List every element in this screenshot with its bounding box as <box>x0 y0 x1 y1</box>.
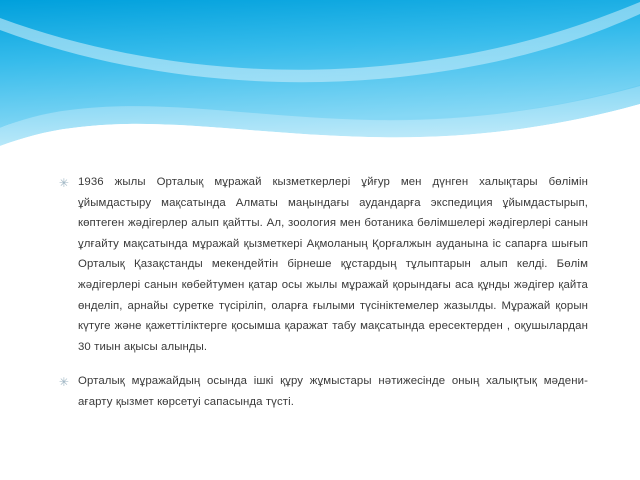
paragraph-text: Орталық мұражайдың осында ішкі құру жұмы… <box>78 371 588 412</box>
wave-header-svg <box>0 0 640 170</box>
bullet-marker-icon: ✳ <box>57 173 71 193</box>
bullet-marker-icon: ✳ <box>57 372 71 392</box>
list-item: ✳ 1936 жылы Орталық мұражай кызметкерлер… <box>0 172 640 357</box>
paragraph-text: 1936 жылы Орталық мұражай кызметкерлері … <box>78 172 588 357</box>
bullet-list: ✳ 1936 жылы Орталық мұражай кызметкерлер… <box>0 172 640 413</box>
wave-header-graphic <box>0 0 640 170</box>
list-item: ✳ Орталық мұражайдың осында ішкі құру жұ… <box>0 371 640 412</box>
slide: ✳ 1936 жылы Орталық мұражай кызметкерлер… <box>0 0 640 480</box>
slide-body: ✳ 1936 жылы Орталық мұражай кызметкерлер… <box>0 172 640 413</box>
